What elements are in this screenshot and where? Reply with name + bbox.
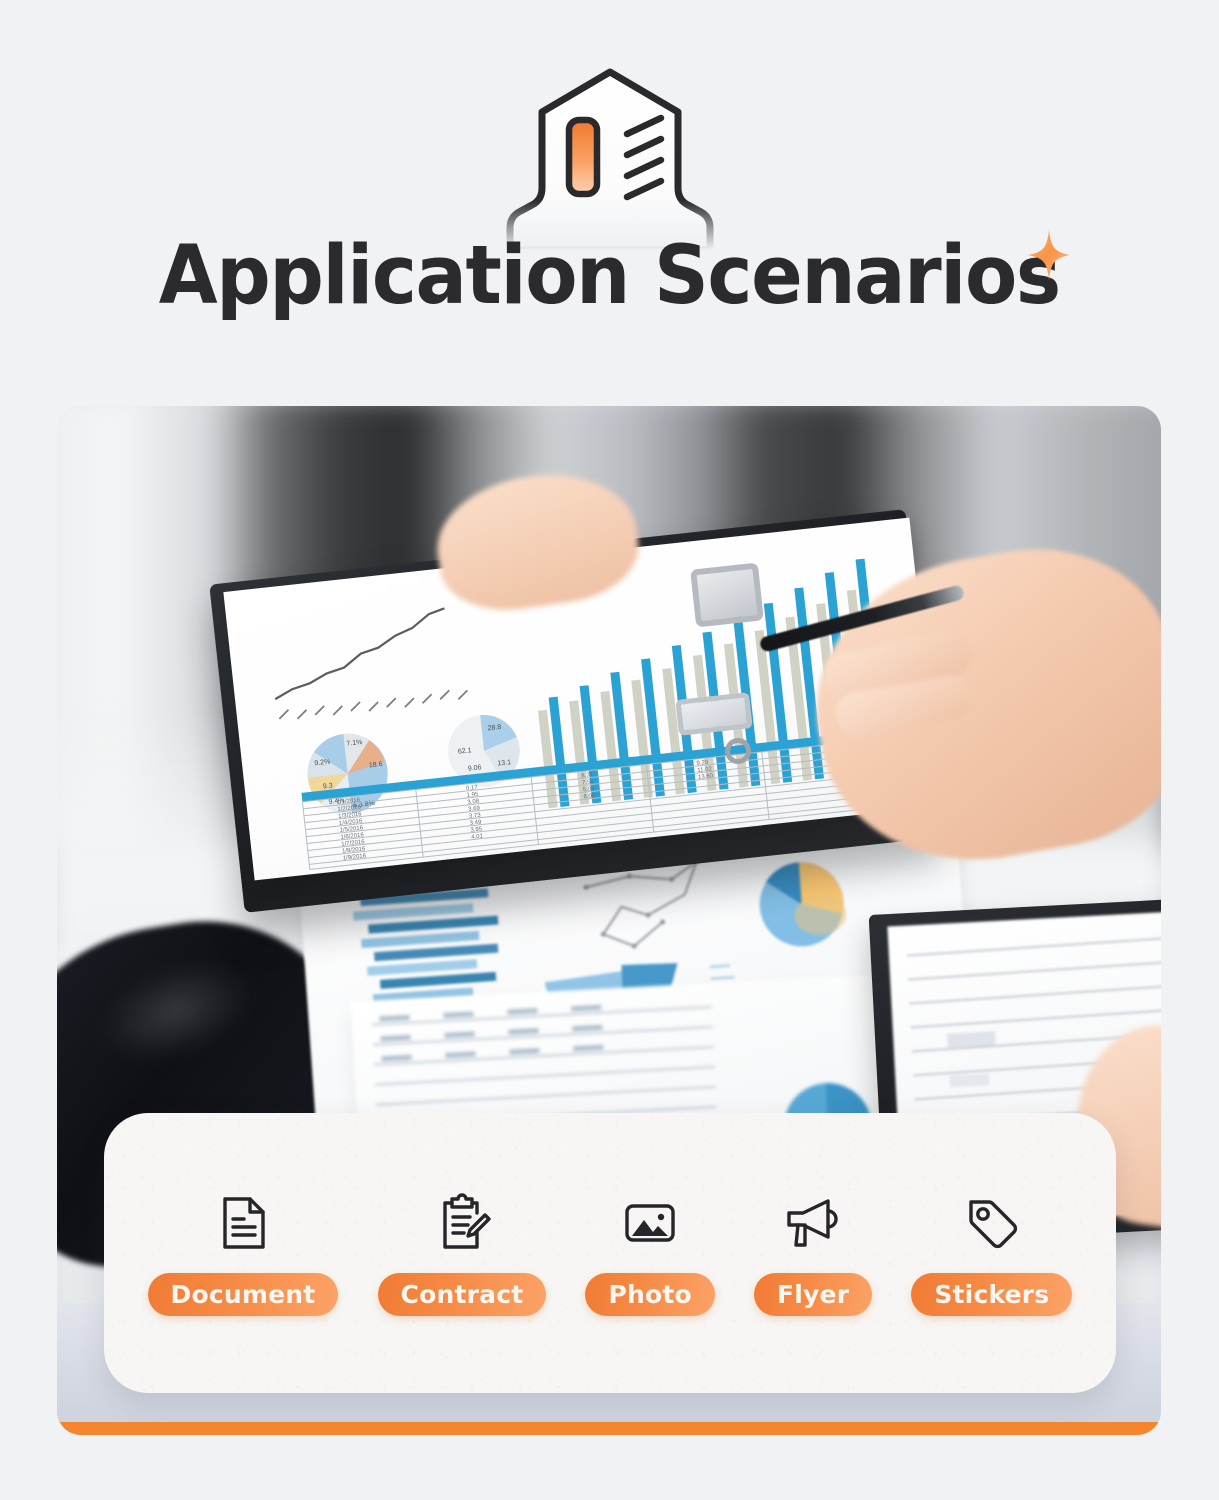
scenario-label-flyer: Flyer: [754, 1273, 872, 1316]
clipboard-pencil-icon: [429, 1190, 495, 1256]
building-tower-icon: [495, 60, 725, 250]
page-title-text: Application Scenarios: [159, 236, 1060, 317]
svg-text:13.1: 13.1: [497, 759, 511, 767]
scenario-item-flyer[interactable]: Flyer: [754, 1190, 872, 1316]
document-file-icon: [210, 1190, 276, 1256]
svg-text:9.06: 9.06: [468, 764, 482, 772]
scenario-item-stickers[interactable]: Stickers: [911, 1190, 1072, 1316]
photo-accent-bar: [57, 1422, 1161, 1435]
svg-text:1/9/2016: 1/9/2016: [343, 853, 368, 862]
scenario-label-stickers: Stickers: [911, 1273, 1072, 1316]
four-point-sparkle-icon: [1026, 228, 1072, 282]
scenario-label-document: Document: [148, 1273, 339, 1316]
svg-text:28.8: 28.8: [487, 724, 501, 732]
application-scenarios-page: Application Scenarios: [0, 0, 1219, 1500]
scenario-label-photo: Photo: [585, 1273, 714, 1316]
svg-text:9.3: 9.3: [323, 782, 334, 790]
scenario-item-photo[interactable]: Photo: [585, 1190, 714, 1316]
price-tag-icon: [959, 1190, 1025, 1256]
svg-text:62.1: 62.1: [458, 747, 472, 755]
header-section: Application Scenarios: [0, 0, 1219, 390]
megaphone-icon: [780, 1190, 846, 1256]
clipboard-clip: [690, 562, 764, 627]
scenario-item-document[interactable]: Document: [148, 1190, 339, 1316]
scenarios-card: Document Contract: [104, 1113, 1116, 1393]
scenario-label-contract: Contract: [378, 1273, 547, 1316]
scenario-chip-list: Document Contract: [104, 1113, 1116, 1393]
svg-text:18.6: 18.6: [369, 761, 383, 769]
image-photo-icon: [617, 1190, 683, 1256]
svg-text:4.01: 4.01: [471, 833, 484, 840]
scenario-item-contract[interactable]: Contract: [378, 1190, 547, 1316]
